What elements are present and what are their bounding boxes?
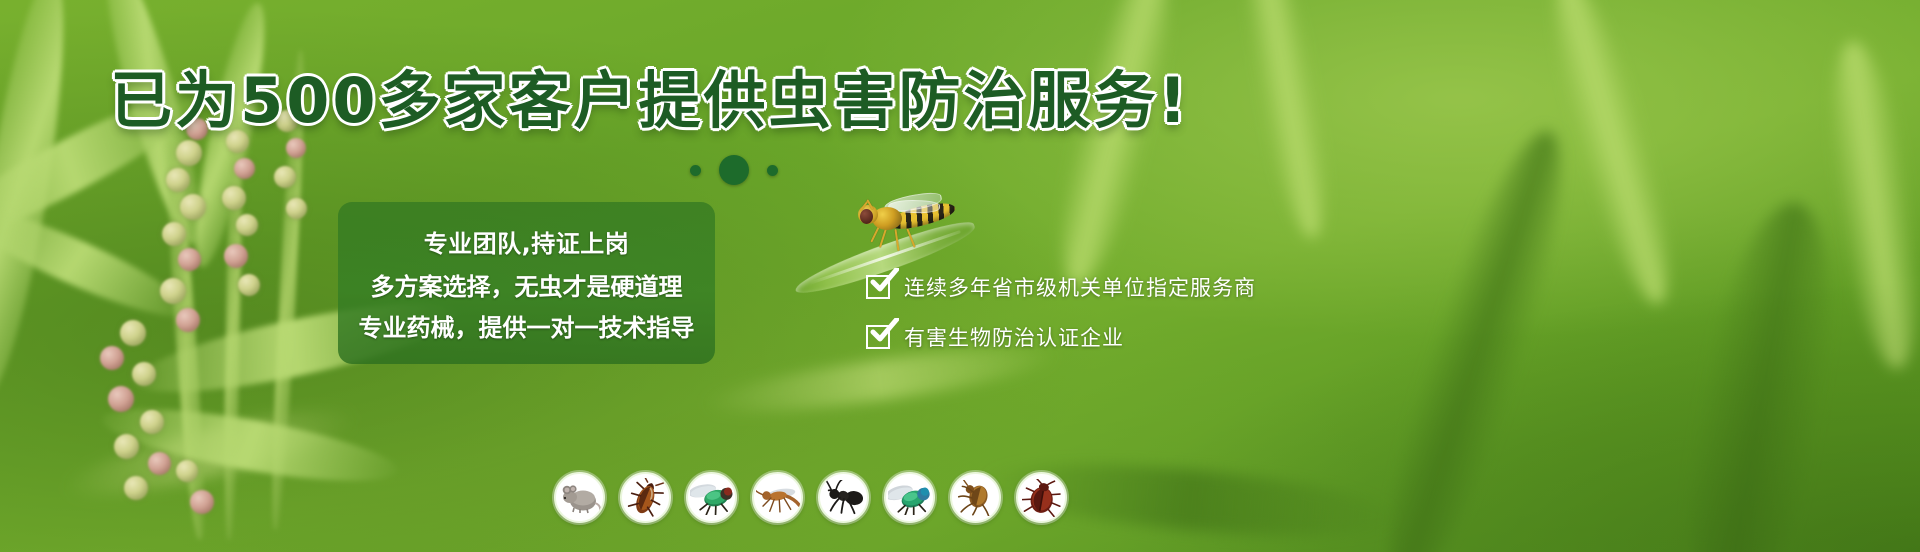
headline-text: 已为500多家客户提供虫害防治服务! xyxy=(110,64,1190,137)
list-item-label: 连续多年省市级机关单位指定服务商 xyxy=(904,272,1256,302)
dot-small-left-icon xyxy=(690,165,701,176)
certification-list: 连续多年省市级机关单位指定服务商 有害生物防治认证企业 xyxy=(866,272,1256,352)
dot-large-center-icon xyxy=(719,155,749,185)
hoverfly-icon xyxy=(852,198,962,246)
blowfly-icon[interactable] xyxy=(884,472,935,523)
mouse-icon[interactable] xyxy=(554,472,605,523)
checkbox-checked-icon xyxy=(866,275,890,299)
checkbox-checked-icon xyxy=(866,325,890,349)
pest-type-icon-row xyxy=(554,472,1067,523)
flea-icon[interactable] xyxy=(950,472,1001,523)
mosquito-icon[interactable] xyxy=(752,472,803,523)
selling-point-line-2: 多方案选择，无虫才是硬道理 xyxy=(371,267,683,302)
selling-points-card: 专业团队,持证上岗 多方案选择，无虫才是硬道理 专业药械，提供一对一技术指导 xyxy=(338,202,715,364)
promo-banner: 已为500多家客户提供虫害防治服务! 专业团队,持证上岗 多方案选择，无虫才是硬… xyxy=(0,0,1920,552)
ant-icon[interactable] xyxy=(818,472,869,523)
selling-point-line-1: 专业团队,持证上岗 xyxy=(424,224,630,259)
decorative-dots xyxy=(690,155,778,185)
cockroach-icon[interactable] xyxy=(620,472,671,523)
list-item: 有害生物防治认证企业 xyxy=(866,322,1256,352)
selling-point-line-3: 专业药械，提供一对一技术指导 xyxy=(359,308,695,343)
housefly-icon[interactable] xyxy=(686,472,737,523)
bedbug-icon[interactable] xyxy=(1016,472,1067,523)
dot-small-right-icon xyxy=(767,165,778,176)
list-item-label: 有害生物防治认证企业 xyxy=(904,322,1124,352)
page-title: 已为500多家客户提供虫害防治服务! xyxy=(0,70,1300,132)
list-item: 连续多年省市级机关单位指定服务商 xyxy=(866,272,1256,302)
